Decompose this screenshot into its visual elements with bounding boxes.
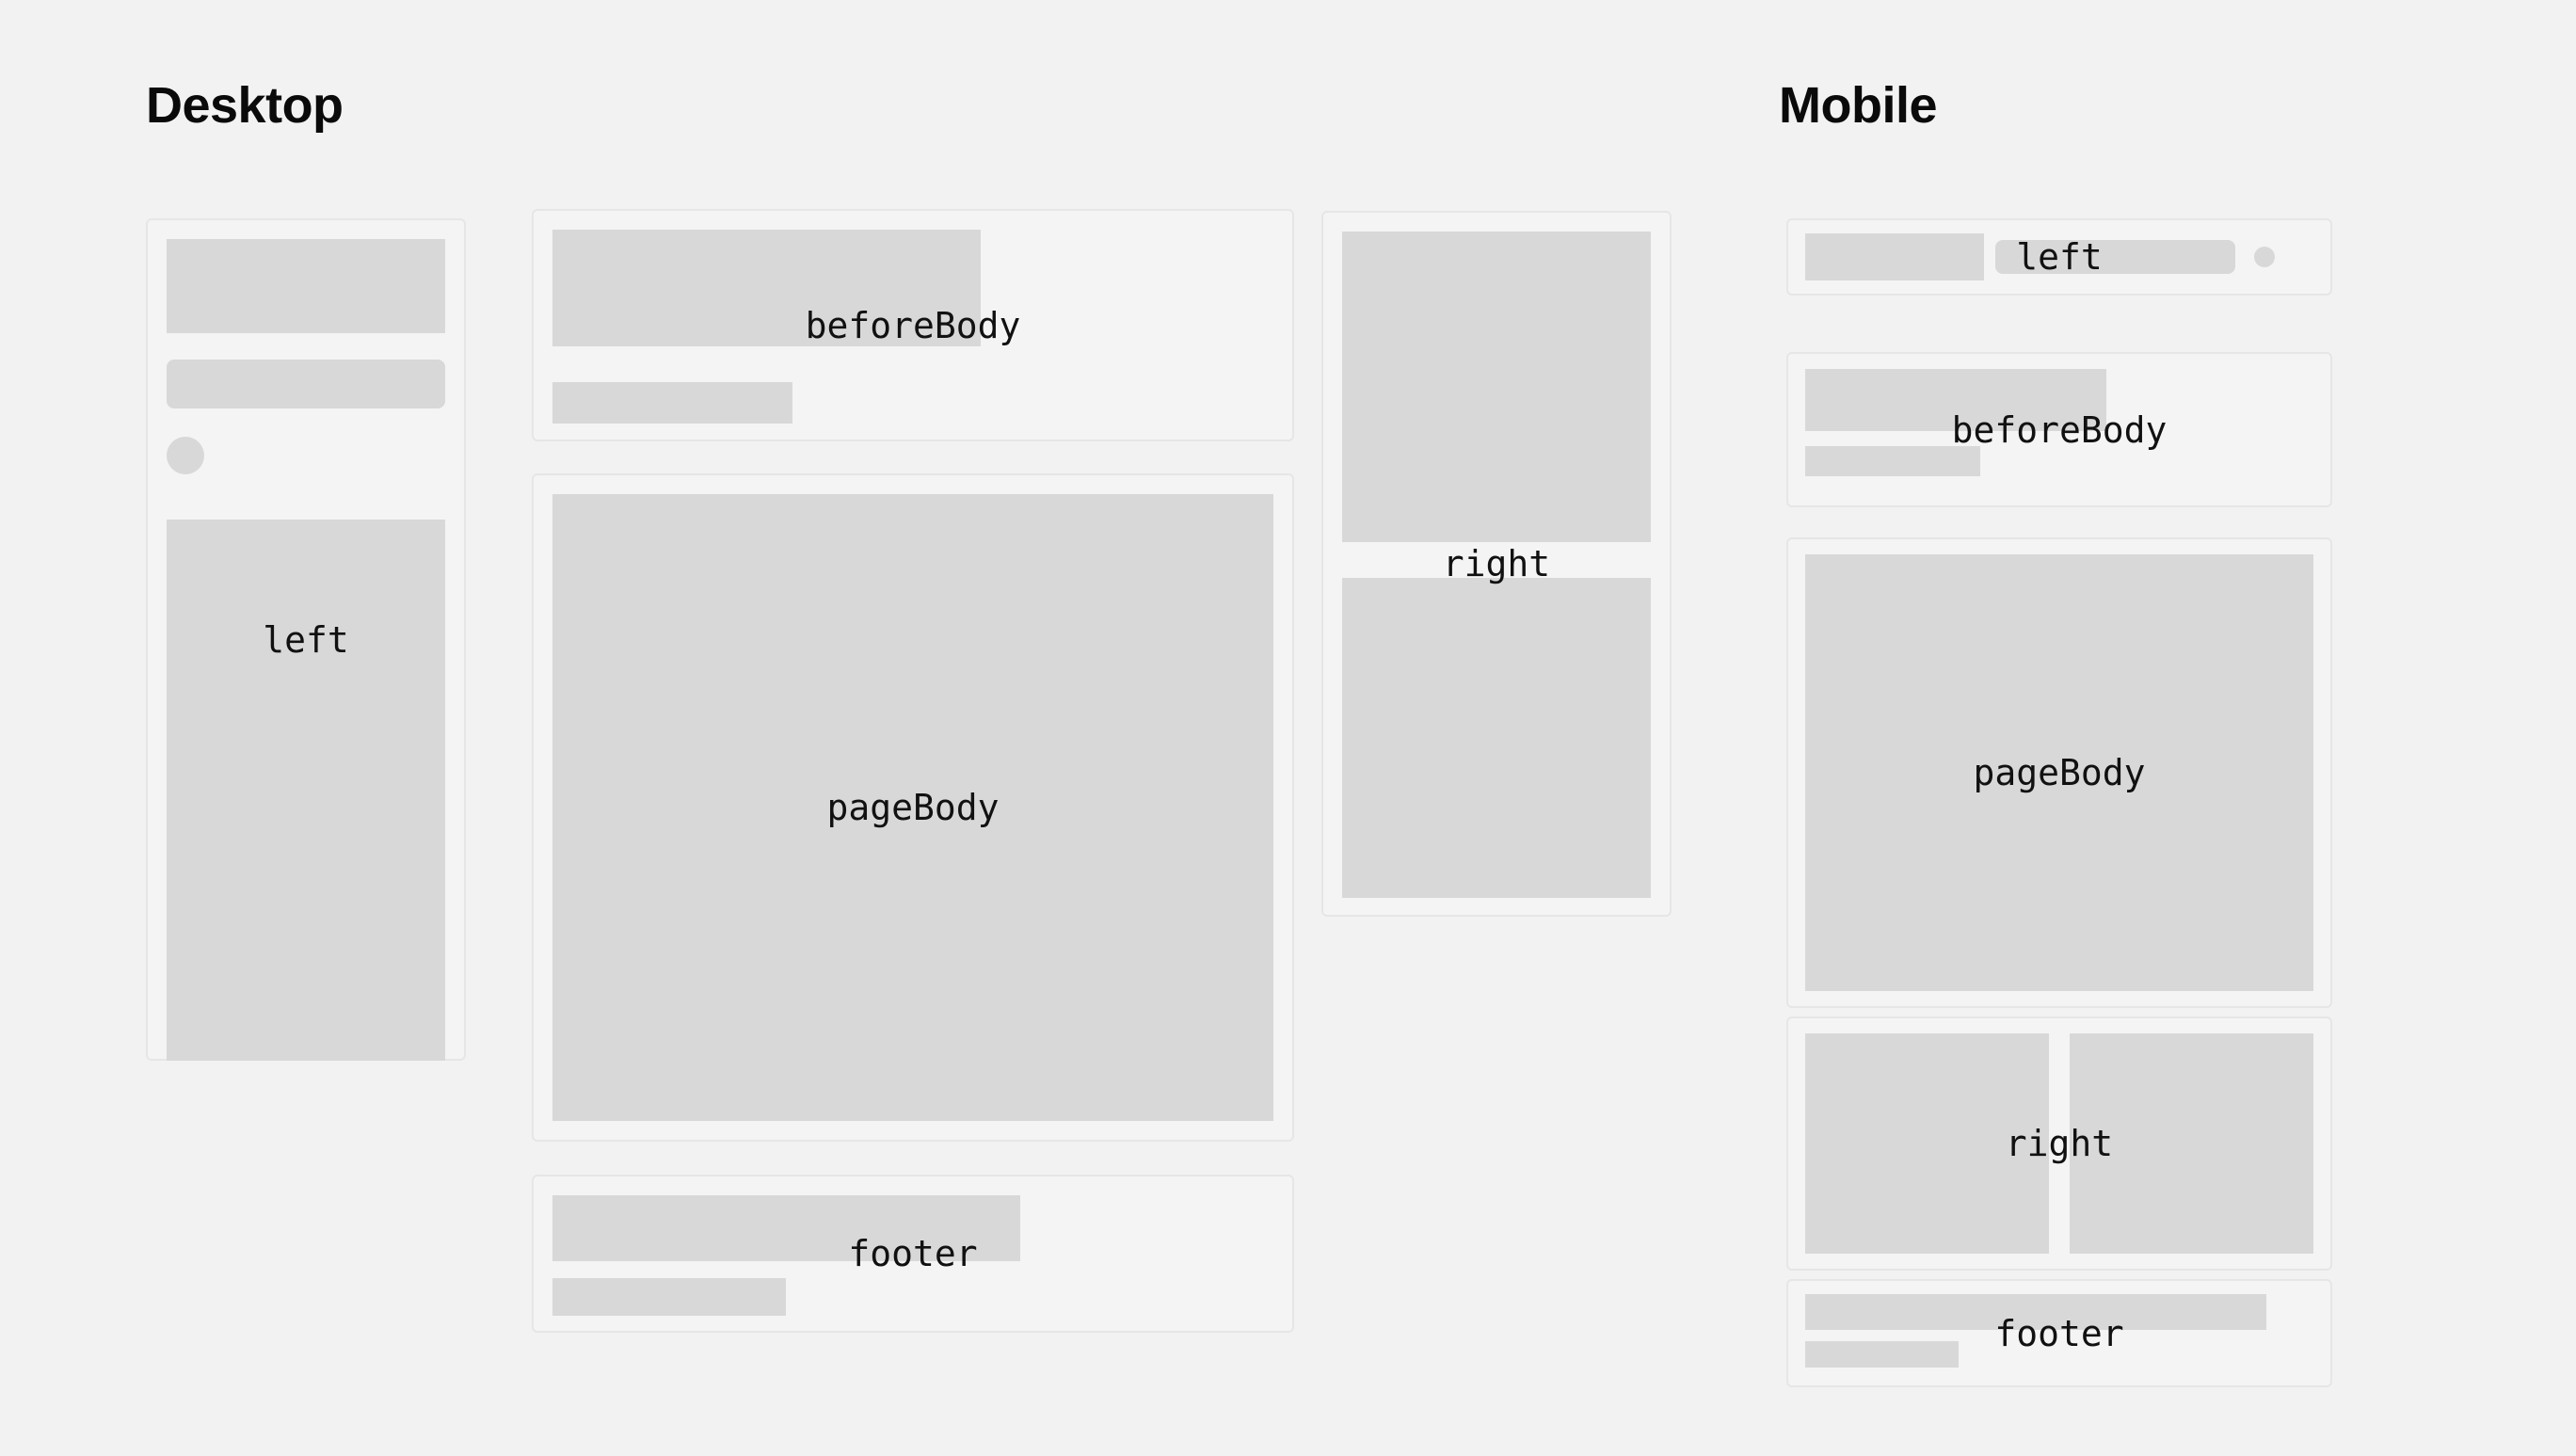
desktop-footer-block-small — [552, 1278, 786, 1316]
desktop-beforebody-inner: beforeBody — [552, 230, 1273, 421]
mobile-left-block-square — [1805, 233, 1984, 280]
mobile-footer-inner: footer — [1805, 1294, 2313, 1372]
desktop-slot-pagebody[interactable]: pageBody — [532, 473, 1294, 1142]
mobile-left-row — [1805, 233, 2313, 280]
desktop-left-block-tall-header — [167, 239, 445, 333]
mobile-left-inner: left — [1805, 233, 2313, 280]
mobile-beforebody-block-wide — [1805, 369, 2106, 431]
mobile-footer-block-small — [1805, 1341, 1959, 1368]
mobile-right-block-left-column — [1805, 1033, 2049, 1254]
mobile-slot-left[interactable]: left — [1786, 218, 2332, 296]
desktop-left-block-tall-body — [167, 520, 445, 1061]
desktop-right-block-top — [1342, 232, 1651, 542]
mobile-pagebody-inner: pageBody — [1805, 554, 2313, 991]
mobile-footer-block-wide — [1805, 1294, 2266, 1330]
desktop-left-inner: left — [167, 239, 445, 1040]
mobile-left-block-avatar-dot — [2254, 247, 2275, 267]
desktop-left-block-rounded-bar — [167, 360, 445, 408]
desktop-right-block-bottom — [1342, 578, 1651, 898]
desktop-pagebody-block-fill — [552, 494, 1273, 1121]
desktop-slot-left[interactable]: left — [146, 218, 466, 1061]
desktop-beforebody-block-small — [552, 382, 792, 424]
desktop-beforebody-block-wide — [552, 230, 981, 346]
mobile-left-block-rounded-bar — [1995, 240, 2235, 274]
desktop-footer-block-wide — [552, 1195, 1020, 1261]
desktop-left-block-avatar-dot — [167, 437, 204, 474]
mobile-slot-right[interactable]: right — [1786, 1016, 2332, 1271]
mobile-right-inner: right — [1805, 1033, 2313, 1254]
wireframe-stage: Desktop left beforeBody pageBody right — [0, 0, 2576, 1456]
desktop-slot-beforebody[interactable]: beforeBody — [532, 209, 1294, 441]
mobile-section-heading: Mobile — [1779, 80, 1937, 131]
mobile-beforebody-block-small — [1805, 446, 1980, 476]
mobile-slot-footer[interactable]: footer — [1786, 1279, 2332, 1387]
mobile-right-split — [1805, 1033, 2313, 1254]
mobile-slot-pagebody[interactable]: pageBody — [1786, 537, 2332, 1008]
desktop-slot-right[interactable]: right — [1321, 211, 1672, 917]
mobile-beforebody-inner: beforeBody — [1805, 369, 2313, 490]
desktop-right-inner: right — [1342, 232, 1651, 896]
desktop-footer-inner: footer — [552, 1195, 1273, 1312]
mobile-right-block-right-column — [2070, 1033, 2313, 1254]
mobile-slot-beforebody[interactable]: beforeBody — [1786, 352, 2332, 507]
mobile-pagebody-block-fill — [1805, 554, 2313, 991]
desktop-section-heading: Desktop — [146, 80, 344, 131]
desktop-slot-footer[interactable]: footer — [532, 1175, 1294, 1333]
desktop-pagebody-inner: pageBody — [552, 494, 1273, 1121]
